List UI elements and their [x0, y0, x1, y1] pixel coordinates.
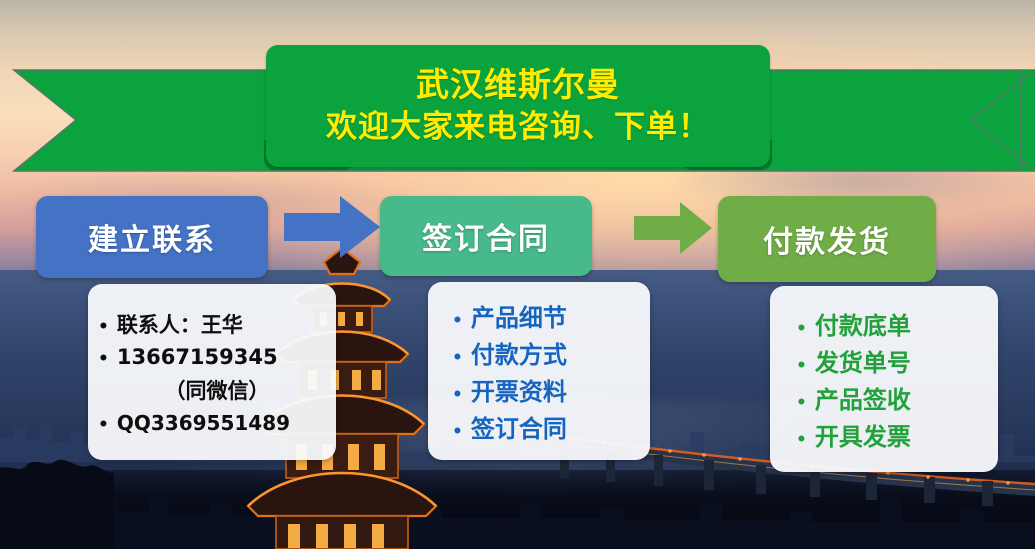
list-item: • 13667159345	[98, 345, 330, 369]
flow-step-1-list: • 联系人：王华 • 13667159345 （同微信） • QQ3369551…	[98, 294, 330, 450]
list-item: • QQ3369551489	[98, 411, 330, 435]
flow-step-2-item-2: 开票资料	[471, 372, 567, 407]
flow-step-2-body: • 产品细节 • 付款方式 • 开票资料 • 签订合同	[428, 282, 650, 460]
flow-step-1-sub-item: （同微信）	[98, 375, 330, 405]
flow-step-1-title: 建立联系	[88, 215, 216, 259]
list-item: • 开具发票	[776, 417, 992, 452]
flow-step-1-item-0: 联系人：王华	[117, 309, 243, 339]
flow-step-3-item-3: 开具发票	[815, 417, 911, 452]
list-item: • 产品签收	[776, 380, 992, 415]
list-item: • 联系人：王华	[98, 309, 330, 339]
banner-center-panel: 武汉维斯尔曼 欢迎大家来电咨询、下单！	[266, 45, 770, 167]
list-item: • 产品细节	[434, 298, 644, 333]
banner-title-line1: 武汉维斯尔曼	[416, 65, 620, 105]
flow-step-3-item-0: 付款底单	[815, 306, 911, 341]
flow-step-2-title: 签订合同	[422, 214, 550, 258]
foreground-tree-silhouette	[0, 452, 114, 549]
bullet-icon: •	[452, 424, 463, 441]
flow-step-2-list: • 产品细节 • 付款方式 • 开票资料 • 签订合同	[434, 290, 644, 452]
list-item: • 开票资料	[434, 372, 644, 407]
flow-step-card-3[interactable]: 付款发货 • 付款底单 • 发货单号 • 产品签收 • 开具发票	[718, 196, 998, 474]
flow-step-1-subitem-row: （同微信）	[98, 375, 330, 405]
flow-step-1-header: 建立联系	[36, 196, 268, 278]
flow-step-1-item-2: QQ3369551489	[117, 411, 290, 435]
list-item: • 发货单号	[776, 343, 992, 378]
flow-step-card-2[interactable]: 签订合同 • 产品细节 • 付款方式 • 开票资料 • 签订合同	[380, 196, 650, 466]
flow-step-3-title: 付款发货	[763, 217, 891, 261]
list-item: • 付款方式	[434, 335, 644, 370]
bullet-icon: •	[452, 313, 463, 330]
bullet-icon: •	[98, 319, 109, 336]
flow-step-3-item-1: 发货单号	[815, 343, 911, 378]
flow-step-1-body: • 联系人：王华 • 13667159345 （同微信） • QQ3369551…	[88, 284, 336, 460]
poster-canvas: 武汉维斯尔曼 欢迎大家来电咨询、下单！ 建立联系 • 联系人：王华 • 1366…	[0, 0, 1035, 549]
flow-step-3-header: 付款发货	[718, 196, 936, 282]
list-item: • 签订合同	[434, 409, 644, 444]
bullet-icon: •	[452, 350, 463, 367]
flow-step-2-header: 签订合同	[380, 196, 592, 276]
flow-step-card-1[interactable]: 建立联系 • 联系人：王华 • 13667159345 （同微信） • QQ33…	[36, 196, 336, 466]
bullet-icon: •	[796, 432, 807, 449]
flow-step-1-item-1: 13667159345	[117, 345, 278, 369]
bullet-icon: •	[796, 321, 807, 338]
bullet-icon: •	[98, 417, 109, 434]
banner-title-block: 武汉维斯尔曼 欢迎大家来电咨询、下单！	[266, 45, 770, 167]
flow-step-2-item-0: 产品细节	[471, 298, 567, 333]
banner-title-line2: 欢迎大家来电咨询、下单！	[326, 109, 710, 147]
bullet-icon: •	[796, 395, 807, 412]
flow-step-2-item-3: 签订合同	[471, 409, 567, 444]
flow-step-3-body: • 付款底单 • 发货单号 • 产品签收 • 开具发票	[770, 286, 998, 472]
flow-step-3-list: • 付款底单 • 发货单号 • 产品签收 • 开具发票	[776, 294, 992, 464]
bullet-icon: •	[452, 387, 463, 404]
flow-step-3-item-2: 产品签收	[815, 380, 911, 415]
bullet-icon: •	[796, 358, 807, 375]
bullet-icon: •	[98, 351, 109, 368]
flow-step-2-item-1: 付款方式	[471, 335, 567, 370]
list-item: • 付款底单	[776, 306, 992, 341]
